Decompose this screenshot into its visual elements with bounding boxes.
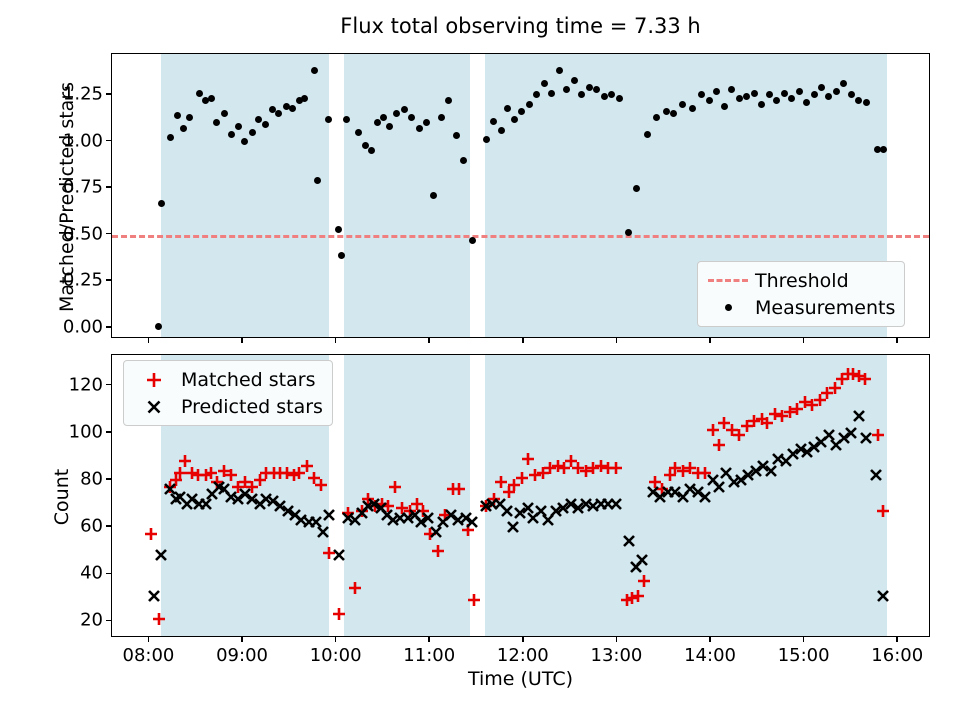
data-point <box>663 108 670 115</box>
data-point <box>728 86 735 93</box>
data-point <box>228 131 235 138</box>
data-point <box>343 116 350 123</box>
x-tick-mark <box>896 637 898 642</box>
y-axis-ticks-top: 0.000.250.500.751.001.25 <box>3 53 103 338</box>
shaded-band <box>344 54 470 337</box>
y-axis-ticks-bottom: 20406080100120 <box>3 354 103 637</box>
legend-top: Threshold Measurements <box>697 261 905 327</box>
x-tick-label: 14:00 <box>684 645 736 666</box>
data-point <box>511 116 518 123</box>
data-point <box>803 99 810 106</box>
threshold-line <box>112 235 929 238</box>
data-point <box>438 114 445 121</box>
data-point <box>736 95 743 102</box>
x-tick-mark <box>522 338 524 343</box>
y-tick-label: 100 <box>69 421 103 442</box>
data-point <box>158 200 165 207</box>
data-point <box>483 136 490 143</box>
x-tick-mark <box>428 338 430 343</box>
data-point <box>289 105 296 112</box>
legend-item-predicted-stars[interactable]: Predicted stars <box>131 393 323 420</box>
legend-label-predicted-stars: Predicted stars <box>177 396 323 418</box>
x-tick-label: 09:00 <box>216 645 268 666</box>
data-point <box>571 77 578 84</box>
data-point <box>796 88 803 95</box>
y-tick-label: 80 <box>80 468 103 489</box>
legend-bottom: Matched stars Predicted stars <box>123 360 333 426</box>
data-point <box>880 146 887 153</box>
data-point <box>504 105 511 112</box>
y-tick-label: 0.00 <box>63 316 103 337</box>
data-point <box>498 127 505 134</box>
data-point <box>818 84 825 91</box>
dashed-line-key <box>705 279 751 282</box>
figure-canvas: Flux total observing time = 7.33 h Match… <box>0 0 960 720</box>
data-point <box>401 106 408 113</box>
y-tick-label: 20 <box>80 610 103 631</box>
data-point <box>186 114 193 121</box>
data-point <box>355 129 362 136</box>
data-point <box>751 90 758 97</box>
data-point <box>863 99 870 106</box>
data-point <box>221 110 228 117</box>
x-tick-mark <box>522 637 524 642</box>
x-axis-ticks-top <box>111 338 930 344</box>
data-point <box>586 84 593 91</box>
x-tick-label: 12:00 <box>497 645 549 666</box>
data-point <box>616 95 623 102</box>
x-tick-mark <box>148 338 150 343</box>
y-tick-label: 1.25 <box>63 83 103 104</box>
y-tick-label: 0.25 <box>63 270 103 291</box>
x-tick-label: 16:00 <box>871 645 923 666</box>
y-tick-label: 0.50 <box>63 223 103 244</box>
data-point <box>469 237 476 244</box>
x-tick-mark <box>709 338 711 343</box>
y-tick-label: 60 <box>80 516 103 537</box>
y-tick-label: 1.00 <box>63 130 103 151</box>
data-point <box>706 97 713 104</box>
dot-key <box>705 304 751 311</box>
x-tick-label: 08:00 <box>123 645 175 666</box>
x-tick-mark <box>428 637 430 642</box>
data-point <box>416 125 423 132</box>
legend-item-matched-stars[interactable]: Matched stars <box>131 366 323 393</box>
data-point <box>338 252 345 259</box>
legend-label-threshold: Threshold <box>751 270 849 292</box>
data-point <box>721 103 728 110</box>
legend-label-matched-stars: Matched stars <box>177 369 315 391</box>
data-point <box>174 112 181 119</box>
data-point <box>311 67 318 74</box>
data-point <box>833 88 840 95</box>
data-point <box>526 101 533 108</box>
legend-label-measurements: Measurements <box>751 297 895 319</box>
data-point <box>180 125 187 132</box>
data-point <box>335 226 342 233</box>
x-tick-mark <box>709 637 711 642</box>
legend-item-threshold[interactable]: Threshold <box>705 267 895 294</box>
cross-key <box>131 398 177 416</box>
y-tick-label: 40 <box>80 563 103 584</box>
data-point <box>758 101 765 108</box>
x-tick-label: 10:00 <box>310 645 362 666</box>
data-point <box>633 185 640 192</box>
data-point <box>235 123 242 130</box>
x-tick-mark <box>335 637 337 642</box>
x-tick-mark <box>616 338 618 343</box>
data-point <box>490 118 497 125</box>
y-tick-label: 120 <box>69 374 103 395</box>
x-axis-ticks-bottom: 08:0009:0010:0011:0012:0013:0014:0015:00… <box>111 637 930 671</box>
x-tick-label: 15:00 <box>778 645 830 666</box>
data-point <box>781 90 788 97</box>
x-tick-label: 11:00 <box>403 645 455 666</box>
data-point <box>325 116 332 123</box>
data-point <box>249 129 256 136</box>
data-point <box>689 105 696 112</box>
x-tick-mark <box>241 338 243 343</box>
x-tick-mark <box>148 637 150 642</box>
figure-title: Flux total observing time = 7.33 h <box>111 14 930 38</box>
x-axis-label: Time (UTC) <box>111 668 930 690</box>
legend-item-measurements[interactable]: Measurements <box>705 294 895 321</box>
plus-key <box>131 371 177 389</box>
data-point <box>644 131 651 138</box>
x-tick-mark <box>335 338 337 343</box>
x-tick-mark <box>896 338 898 343</box>
data-point <box>380 114 387 121</box>
x-tick-mark <box>803 338 805 343</box>
data-point <box>460 157 467 164</box>
data-point <box>208 95 215 102</box>
y-tick-label: 0.75 <box>63 177 103 198</box>
x-tick-label: 13:00 <box>591 645 643 666</box>
x-tick-mark <box>241 637 243 642</box>
x-tick-mark <box>616 637 618 642</box>
data-point <box>408 114 415 121</box>
data-point <box>196 90 203 97</box>
data-point <box>713 88 720 95</box>
x-tick-mark <box>803 637 805 642</box>
